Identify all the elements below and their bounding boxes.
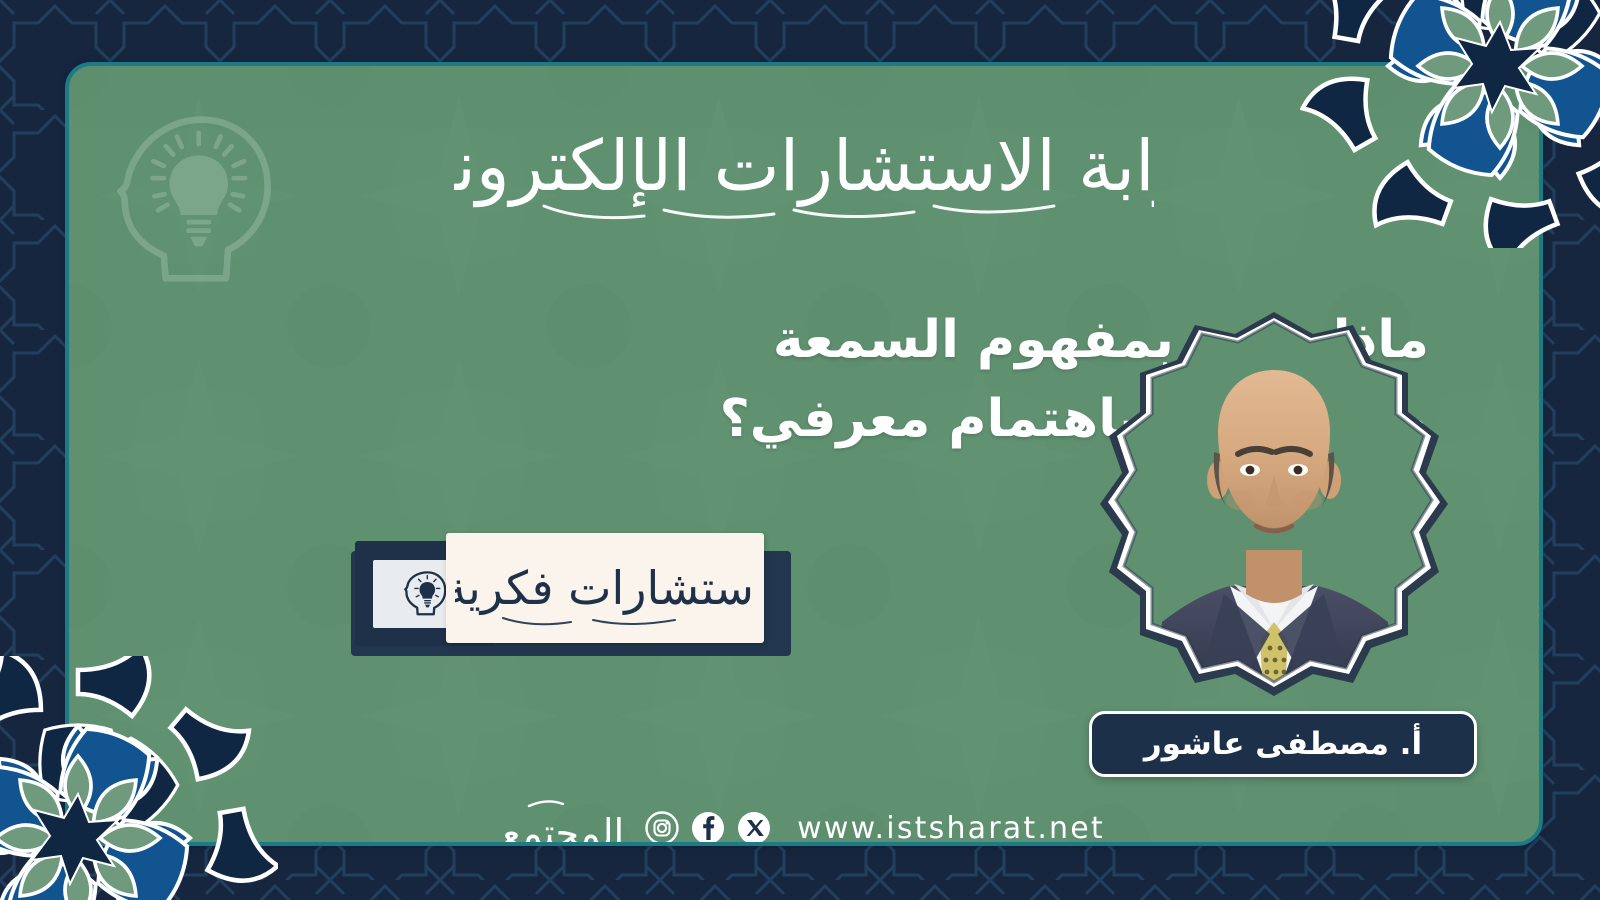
portrait-frame	[1074, 304, 1474, 704]
instagram-icon[interactable]	[645, 811, 679, 845]
head-lightbulb-icon	[402, 571, 448, 617]
plaque-calligraphy-svg: استشارات فكرية	[455, 542, 755, 634]
speaker-portrait	[1074, 304, 1474, 704]
portrait-photo	[1074, 304, 1474, 704]
x-twitter-icon[interactable]	[737, 811, 771, 845]
plaque-sign: استشارات فكرية	[446, 533, 764, 643]
almujtama-logo: المجتمع	[503, 790, 623, 846]
almujtama-logo-text: المجتمع	[503, 811, 623, 846]
program-plaque: استشارات فكرية	[351, 541, 791, 656]
speaker-name-badge: أ. مصطفى عاشور	[1089, 711, 1477, 777]
head-lightbulb-icon	[109, 106, 279, 291]
speaker-name: أ. مصطفى عاشور	[1144, 726, 1422, 762]
content-card: بوابة الاستشارات الإلكترونية ماذا نعني ب…	[65, 62, 1543, 846]
social-links[interactable]	[645, 811, 771, 845]
facebook-icon[interactable]	[691, 811, 725, 845]
website-url[interactable]: www.istsharat.net	[797, 811, 1105, 846]
plaque-calligraphy-text: استشارات فكرية	[455, 561, 755, 616]
poster-canvas: بوابة الاستشارات الإلكترونية ماذا نعني ب…	[0, 0, 1600, 900]
footer-bar: المجتمع	[69, 788, 1539, 846]
